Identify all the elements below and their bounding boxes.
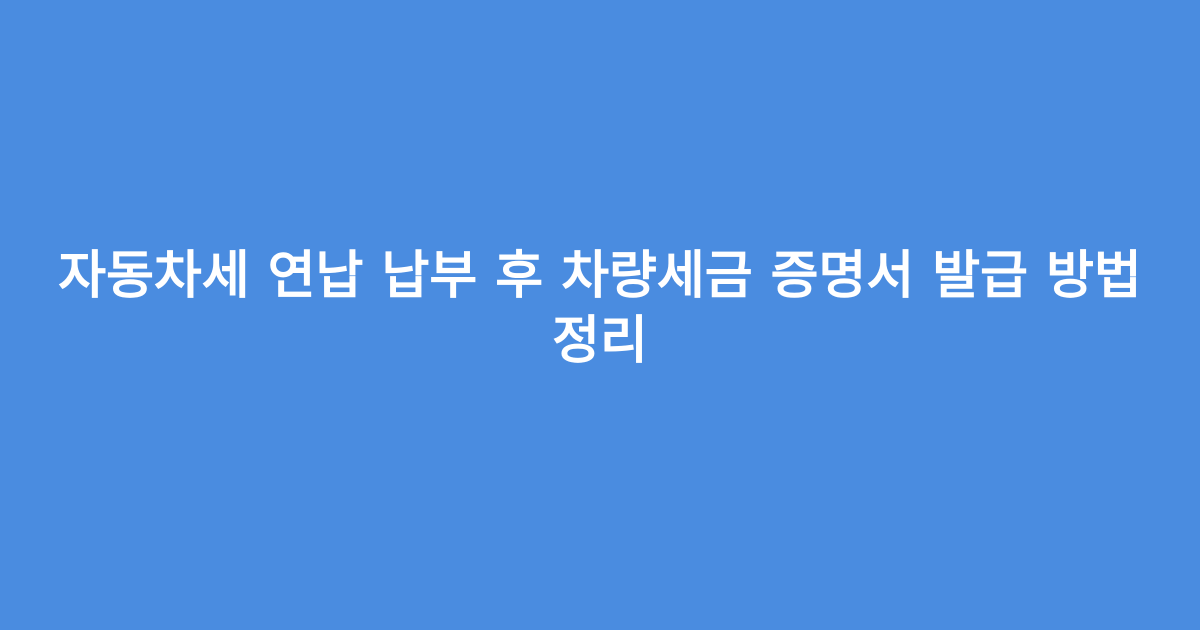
og-share-card: 자동차세 연납 납부 후 차량세금 증명서 발급 방법 정리 <box>0 0 1200 630</box>
card-content-block: 자동차세 연납 납부 후 차량세금 증명서 발급 방법 정리 <box>40 244 1160 374</box>
page-title: 자동차세 연납 납부 후 차량세금 증명서 발급 방법 정리 <box>40 244 1160 374</box>
